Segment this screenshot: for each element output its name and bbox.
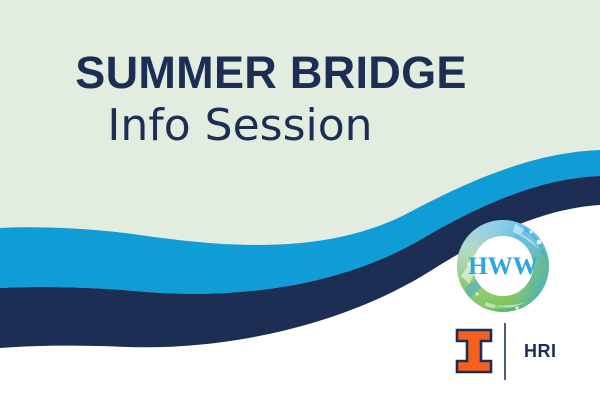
summer-bridge-info-session-banner: SUMMER BRIDGE Info Session [0, 0, 600, 400]
hww-wordmark: HWW [468, 253, 537, 280]
hww-logo: HWW [455, 218, 551, 314]
illinois-hri-lockup: HRI [452, 320, 572, 382]
page-title: SUMMER BRIDGE [0, 50, 600, 95]
lockup-divider [504, 323, 506, 380]
block-i-wrap [452, 326, 496, 376]
block-i-icon [453, 327, 495, 375]
headline-block: SUMMER BRIDGE Info Session [0, 50, 600, 150]
page-subtitle: Info Session [0, 102, 600, 150]
hri-wordmark: HRI [524, 341, 557, 362]
